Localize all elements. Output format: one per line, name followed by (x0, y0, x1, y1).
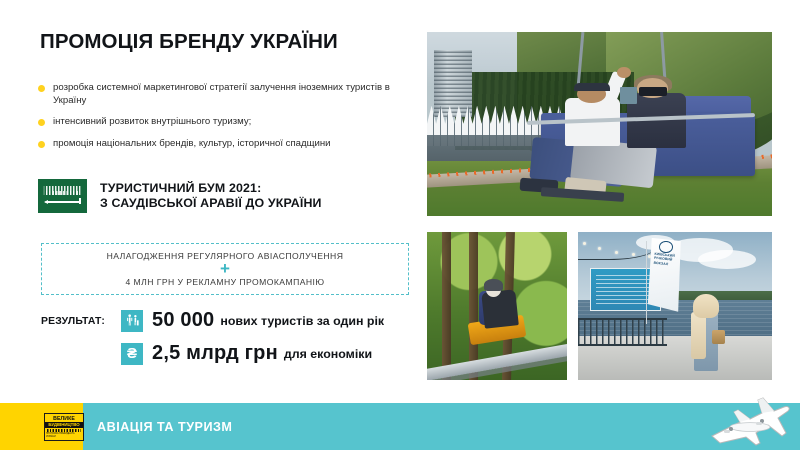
saudi-arabia-flag-icon (38, 179, 87, 213)
bullet-text: інтенсивний розвиток внутрішнього туризм… (53, 116, 251, 127)
flag-sword (45, 201, 80, 203)
bullet-text: розробка системної маркетингової стратег… (53, 82, 390, 106)
footer-section-title: АВІАЦІЯ ТА ТУРИЗМ (97, 420, 232, 434)
result-number: 50 000 (152, 309, 214, 332)
list-item: інтенсивний розвиток внутрішнього туризм… (38, 116, 413, 129)
results-label: РЕЗУЛЬТАТ: (41, 316, 105, 327)
hryvnia-glyph: ₴ (127, 346, 137, 361)
result-number: 2,5 млрд грн (152, 342, 278, 365)
result-row-economy: ₴ 2,5 млрд грн для економіки (121, 342, 372, 365)
dashed-box-line-2: 4 МЛН ГРН У РЕКЛАМНУ ПРОМОКАМПАНІЮ (125, 277, 324, 287)
tourists-icon (121, 310, 143, 332)
banner-line-2: З САУДІВСЬКОЇ АРАВІЇ ДО УКРАЇНИ (100, 196, 322, 211)
bullet-text: промоція національних брендів, культур, … (53, 138, 331, 149)
bullet-dot-icon (38, 141, 45, 148)
result-row-tourists: 50 000 нових туристів за один рік (121, 309, 384, 332)
page-title: ПРОМОЦІЯ БРЕНДУ УКРАЇНИ (40, 30, 420, 54)
bullet-dot-icon (38, 85, 45, 92)
flag-sword-hilt (79, 198, 81, 204)
logo-line-3: ПРОГРАМА ПРЕЗИДЕНТА УКРАЇНИ (46, 433, 82, 439)
hryvnia-icon: ₴ (121, 343, 143, 365)
river-port-photo: КИЇВСЬКИЙ РІЧКОВИЙ ВОКЗАЛ (578, 232, 772, 380)
banner-line-1: ТУРИСТИЧНИЙ БУМ 2021: (100, 181, 322, 196)
banner-text: ТУРИСТИЧНИЙ БУМ 2021: З САУДІВСЬКОЇ АРАВ… (100, 181, 322, 212)
result-suffix: нових туристів за один рік (220, 314, 384, 328)
chairlift-photo (427, 32, 772, 216)
list-item: розробка системної маркетингової стратег… (38, 82, 413, 107)
result-suffix: для економіки (284, 347, 372, 361)
tourism-boom-banner: ТУРИСТИЧНИЙ БУМ 2021: З САУДІВСЬКОЇ АРАВ… (38, 179, 322, 213)
velyke-budivnytstvo-logo: ВЕЛИКЕ БУДІВНИЦТВО ПРОГРАМА ПРЕЗИДЕНТА У… (44, 413, 84, 441)
bullet-dot-icon (38, 119, 45, 126)
airplane-icon (700, 396, 792, 450)
bullet-list: розробка системної маркетингової стратег… (38, 82, 413, 160)
alpine-coaster-photo (427, 232, 567, 380)
plus-icon: + (220, 262, 230, 276)
flag-shahada-script-lower (46, 191, 79, 195)
investment-dashed-box: НАЛАГОДЖЕННЯ РЕГУЛЯРНОГО АВІАСПОЛУЧЕННЯ … (41, 243, 409, 295)
logo-line-2: БУДІВНИЦТВО (45, 422, 83, 428)
flag-text: КИЇВСЬКИЙ РІЧКОВИЙ ВОКЗАЛ (649, 252, 679, 305)
presentation-slide: ПРОМОЦІЯ БРЕНДУ УКРАЇНИ розробка системн… (0, 0, 800, 450)
list-item: промоція національних брендів, культур, … (38, 138, 413, 151)
